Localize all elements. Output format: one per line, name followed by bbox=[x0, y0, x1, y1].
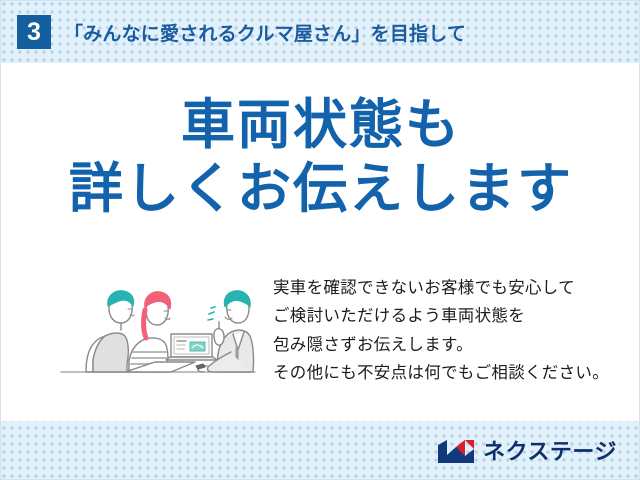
body-line-2: ご検討いただけるよう車両状態を bbox=[273, 302, 609, 330]
lower-section: 実車を確認できないお客様でも安心して ご検討いただけるよう車両状態を 包み隠さず… bbox=[1, 268, 640, 408]
section-number-badge: 3 bbox=[17, 15, 51, 49]
headline-line-1: 車両状態も bbox=[1, 95, 640, 155]
body-line-4: その他にも不安点は何でもご相談ください。 bbox=[273, 359, 609, 387]
body-text: 実車を確認できないお客様でも安心して ご検討いただけるよう車両状態を 包み隠さず… bbox=[273, 274, 609, 388]
body-line-1: 実車を確認できないお客様でも安心して bbox=[273, 274, 609, 302]
consultation-illustration bbox=[53, 268, 263, 388]
headline: 車両状態も 詳しくお伝えします bbox=[1, 95, 640, 220]
body-line-3: 包み隠さずお伝えします。 bbox=[273, 331, 609, 359]
headline-line-2: 詳しくお伝えします bbox=[1, 159, 640, 219]
banner-header: 3 「みんなに愛されるクルマ屋さん」を目指して bbox=[1, 1, 640, 63]
header-title: 「みんなに愛されるクルマ屋さん」を目指して bbox=[64, 19, 466, 46]
brand-logo-text: ネクステージ bbox=[483, 441, 617, 463]
brand-logo: ネクステージ bbox=[437, 438, 617, 465]
promo-banner: 3 「みんなに愛されるクルマ屋さん」を目指して 車両状態も 詳しくお伝えします bbox=[0, 0, 640, 480]
nextage-n-logo-icon bbox=[437, 438, 475, 465]
content-panel: 車両状態も 詳しくお伝えします bbox=[1, 63, 640, 421]
